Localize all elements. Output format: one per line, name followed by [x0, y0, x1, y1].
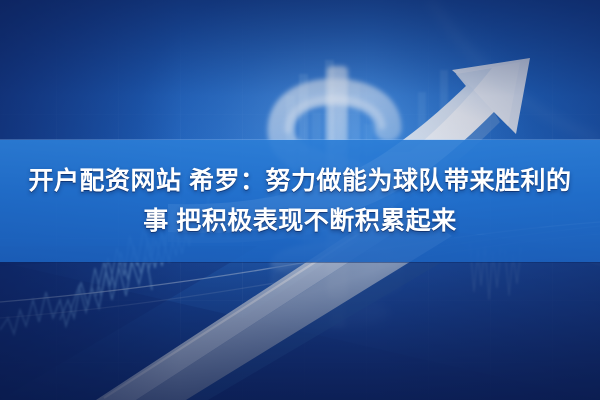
page-title-line-1: 开户配资网站 希罗：努力做能为球队带来胜利的: [29, 162, 572, 200]
financial-news-banner: 开户配资网站 希罗：努力做能为球队带来胜利的 事 把积极表现不断积累起来: [0, 0, 600, 400]
banner-title: 开户配资网站 希罗：努力做能为球队带来胜利的 事 把积极表现不断积累起来: [0, 140, 600, 262]
page-title-line-2: 事 把积极表现不断积累起来: [143, 202, 456, 240]
